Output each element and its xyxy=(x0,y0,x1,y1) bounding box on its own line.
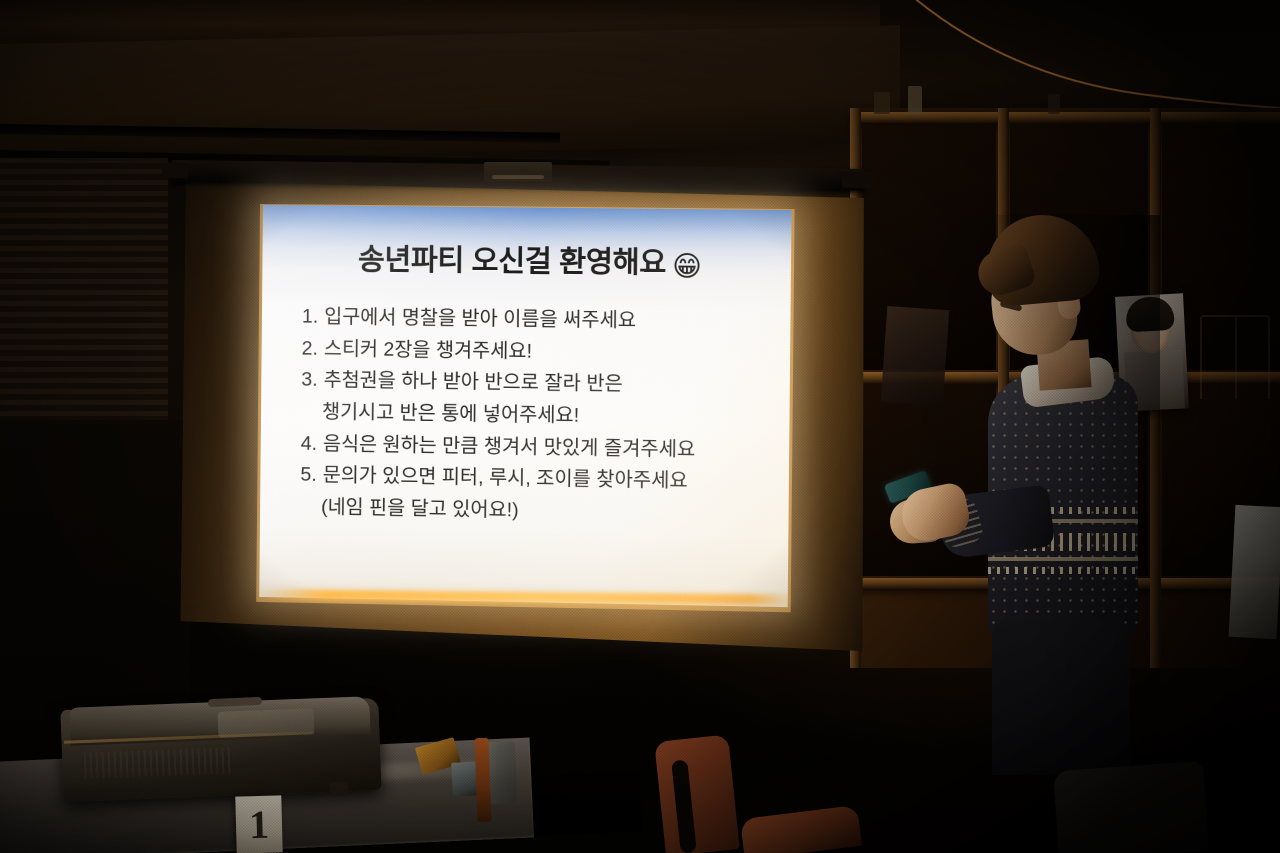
projection-screen: 송년파티 오신걸 환영해요😁 1. 입구에서 명찰을 받아 이름을 써주세요 2… xyxy=(168,160,868,690)
table-object-red xyxy=(475,738,492,822)
screen-center-mount xyxy=(484,162,552,182)
slide-title-text: 송년파티 오신걸 환영해요 xyxy=(358,244,666,280)
slide-instruction-list: 1. 입구에서 명찰을 받아 이름을 써주세요 2. 스티커 2장을 챙겨주세요… xyxy=(300,302,772,529)
wooden-chair-back xyxy=(654,734,740,853)
white-panel-object xyxy=(1229,505,1280,639)
sweater-band-3 xyxy=(988,557,1138,561)
list-item: 1. 입구에서 명찰을 받아 이름을 써주세요 xyxy=(302,302,772,337)
shelf-object-cup xyxy=(874,92,890,114)
list-item: 5. 문의가 있으면 피터, 루시, 조이를 찾아주세요 xyxy=(300,461,770,498)
list-item: 4. 음식은 원하는 만큼 챙겨서 맛있게 즐겨주세요 xyxy=(301,429,771,465)
list-item-text: 음식은 원하는 만큼 챙겨서 맛있게 즐겨주세요 xyxy=(323,430,696,465)
presenter-with-phone xyxy=(930,215,1160,775)
chair-right-foreground xyxy=(1053,761,1209,853)
window-blinds xyxy=(0,158,168,428)
list-item-text: 스티커 2장을 챙겨주세요! xyxy=(324,334,532,366)
table-number-value: 1 xyxy=(248,804,269,845)
slide-content: 송년파티 오신걸 환영해요😁 1. 입구에서 명찰을 받아 이름을 써주세요 2… xyxy=(259,205,791,607)
list-item-number: 1. xyxy=(302,302,319,331)
ceiling-soffit xyxy=(0,25,900,162)
list-item-text: 추첨권을 하나 받아 반으로 잘라 반은 xyxy=(324,366,623,399)
wire-rack xyxy=(1200,315,1270,399)
projected-slide: 송년파티 오신걸 환영해요😁 1. 입구에서 명찰을 받아 이름을 써주세요 2… xyxy=(259,205,791,607)
list-item-text: 문의가 있으면 피터, 루시, 조이를 찾아주세요 xyxy=(323,461,688,496)
projector-foot xyxy=(330,782,348,797)
list-item-number: 3. xyxy=(301,366,318,395)
list-item-text: 입구에서 명찰을 받아 이름을 써주세요 xyxy=(324,303,636,336)
list-item-continuation-text: (네임 핀을 달고 있어요!) xyxy=(321,493,519,525)
screen-bracket-right xyxy=(842,171,876,188)
grinning-face-with-smiling-eyes-icon: 😁 xyxy=(672,250,702,282)
list-item-continuation: 챙기시고 반은 통에 넣어주세요! xyxy=(301,398,771,434)
list-item: 3. 추첨권을 하나 받아 반으로 잘라 반은 xyxy=(301,366,771,401)
screen-bracket-left xyxy=(162,163,188,179)
person-legs xyxy=(992,619,1130,775)
list-item: 2. 스티커 2장을 챙겨주세요! xyxy=(302,334,772,369)
list-item-number: 5. xyxy=(300,461,317,490)
list-item-number: 2. xyxy=(302,334,319,363)
hanging-cord xyxy=(880,0,1280,114)
slide-title: 송년파티 오신걸 환영해요😁 xyxy=(288,235,772,284)
list-item-continuation: (네임 핀을 달고 있어요!) xyxy=(300,493,770,530)
table-number-card: 1 xyxy=(235,795,282,853)
photo-scene: 송년파티 오신걸 환영해요😁 1. 입구에서 명찰을 받아 이름을 써주세요 2… xyxy=(0,0,1280,853)
sweater-band-4 xyxy=(988,567,1138,574)
list-item-continuation-text: 챙기시고 반은 통에 넣어주세요! xyxy=(322,398,579,431)
shelf-object-small xyxy=(1048,94,1060,114)
shelf-object-bottle xyxy=(908,86,922,114)
list-item-number: 4. xyxy=(301,429,318,458)
